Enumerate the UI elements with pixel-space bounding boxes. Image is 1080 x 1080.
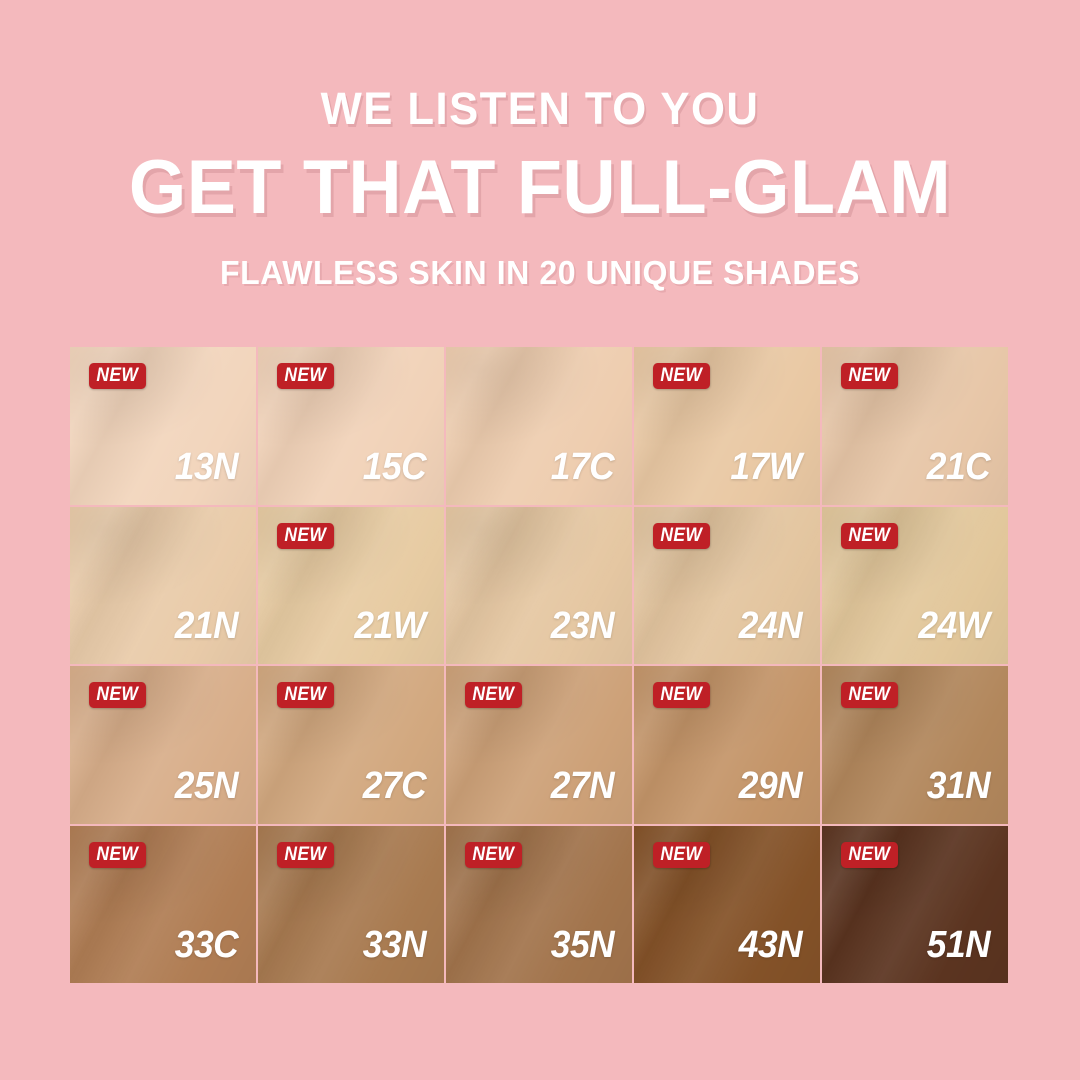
shade-code-label: 15C (363, 448, 426, 486)
new-badge: NEW (653, 363, 710, 389)
header-line-1: WE LISTEN TO YOU (16, 86, 1064, 131)
shade-swatch[interactable]: 23N (446, 507, 632, 665)
shade-code-label: 29N (739, 767, 802, 805)
new-badge: NEW (89, 682, 146, 708)
shade-code-label: 27C (363, 767, 426, 805)
shade-swatch[interactable]: NEW27N (446, 666, 632, 824)
shade-code-label: 13N (175, 448, 238, 486)
shade-code-label: 51N (927, 926, 990, 964)
new-badge: NEW (465, 682, 522, 708)
shade-grid: NEW13NNEW15C17CNEW17WNEW21C21NNEW21W23NN… (70, 347, 1008, 983)
new-badge: NEW (277, 523, 334, 549)
shade-swatch[interactable]: NEW13N (70, 347, 256, 505)
shade-swatch[interactable]: NEW15C (258, 347, 444, 505)
shade-swatch[interactable]: NEW27C (258, 666, 444, 824)
shade-code-label: 21N (175, 607, 238, 645)
new-badge: NEW (89, 842, 146, 868)
new-badge: NEW (277, 682, 334, 708)
shade-swatch[interactable]: NEW24W (822, 507, 1008, 665)
shade-code-label: 24N (739, 607, 802, 645)
shade-swatch[interactable]: 17C (446, 347, 632, 505)
shade-swatch[interactable]: NEW21W (258, 507, 444, 665)
new-badge: NEW (653, 523, 710, 549)
shade-swatch[interactable]: 21N (70, 507, 256, 665)
shade-code-label: 35N (551, 926, 614, 964)
shade-code-label: 17W (731, 448, 802, 486)
shade-code-label: 27N (551, 767, 614, 805)
shade-swatch[interactable]: NEW31N (822, 666, 1008, 824)
shade-code-label: 25N (175, 767, 238, 805)
new-badge: NEW (653, 842, 710, 868)
new-badge: NEW (841, 363, 898, 389)
promo-header: WE LISTEN TO YOU GET THAT FULL-GLAM FLAW… (0, 0, 1080, 289)
shade-grid-wrapper: NEW13NNEW15C17CNEW17WNEW21C21NNEW21W23NN… (70, 347, 1008, 983)
new-badge: NEW (841, 842, 898, 868)
shade-swatch[interactable]: NEW25N (70, 666, 256, 824)
shade-swatch[interactable]: NEW51N (822, 826, 1008, 984)
new-badge: NEW (841, 523, 898, 549)
shade-code-label: 24W (919, 607, 990, 645)
shade-code-label: 33C (175, 926, 238, 964)
new-badge: NEW (89, 363, 146, 389)
shade-swatch[interactable]: NEW33N (258, 826, 444, 984)
shade-code-label: 31N (927, 767, 990, 805)
header-line-2: GET THAT FULL-GLAM (16, 145, 1064, 230)
shade-code-label: 21C (927, 448, 990, 486)
shade-swatch[interactable]: NEW43N (634, 826, 820, 984)
new-badge: NEW (465, 842, 522, 868)
shade-swatch[interactable]: NEW24N (634, 507, 820, 665)
new-badge: NEW (277, 363, 334, 389)
shade-swatch[interactable]: NEW17W (634, 347, 820, 505)
new-badge: NEW (841, 682, 898, 708)
shade-code-label: 33N (363, 926, 426, 964)
shade-swatch[interactable]: NEW29N (634, 666, 820, 824)
header-line-3: FLAWLESS SKIN IN 20 UNIQUE SHADES (16, 256, 1064, 289)
shade-code-label: 23N (551, 607, 614, 645)
shade-code-label: 17C (551, 448, 614, 486)
shade-code-label: 43N (739, 926, 802, 964)
new-badge: NEW (653, 682, 710, 708)
shade-swatch[interactable]: NEW21C (822, 347, 1008, 505)
shade-swatch[interactable]: NEW35N (446, 826, 632, 984)
shade-code-label: 21W (355, 607, 426, 645)
shade-swatch[interactable]: NEW33C (70, 826, 256, 984)
new-badge: NEW (277, 842, 334, 868)
